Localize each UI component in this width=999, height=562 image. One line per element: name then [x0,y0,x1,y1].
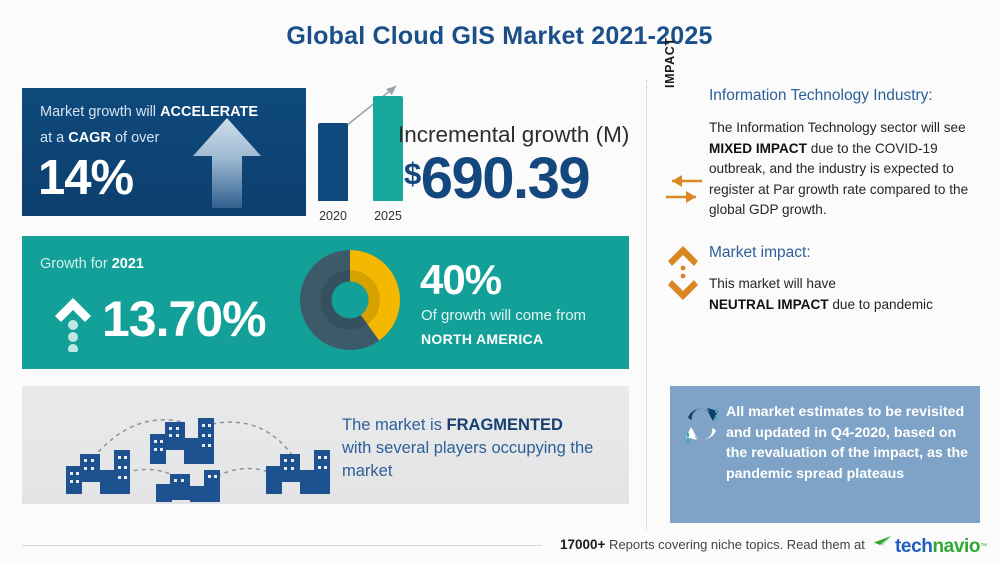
it-industry-heading: Information Technology Industry: [709,87,933,105]
report-count: 17000+ [560,537,605,552]
incremental-growth-value: $690.39 [404,145,589,212]
cagr-line2-pre: at a [40,130,68,146]
infographic-root: Global Cloud GIS Market 2021-2025 Market… [0,0,999,562]
incremental-number: 690.39 [421,146,589,211]
impact-vertical-label: IMPACT [663,37,677,88]
revision-note-panel: All market estimates to be revisited and… [670,386,980,523]
footer-divider [22,545,542,546]
it-mixed-impact: MIXED IMPACT [709,141,807,156]
growth-year: 2021 [112,256,144,272]
cagr-word: CAGR [68,130,111,146]
fragmented-text: The market is FRAGMENTED with several pl… [342,414,612,483]
currency-symbol: $ [404,156,420,191]
market-impact-heading: Market impact: [709,244,811,262]
bar-label-2020: 2020 [310,209,356,223]
it-body-part1: The Information Technology sector will s… [709,120,966,135]
fragmented-word: FRAGMENTED [447,416,563,434]
mi-body-part2: due to pandemic [829,297,933,312]
mi-neutral-impact: NEUTRAL IMPACT [709,297,829,312]
footer-text: 17000+ Reports covering niche topics. Re… [560,537,865,552]
fragmented-pre: The market is [342,416,447,434]
cagr-line-2: at a CAGR of over [40,130,159,146]
fragmented-post: with several players occupying the marke… [342,439,593,480]
revision-note-text: All market estimates to be revisited and… [726,402,972,484]
left-right-arrows-icon [664,168,704,215]
cagr-value: 14% [38,150,133,206]
cagr-panel: Market growth will ACCELERATE at a CAGR … [22,88,306,216]
region-subtitle: Of growth will come from [421,307,586,324]
bar-2025 [373,96,403,201]
cagr-line1-text: Market growth will [40,104,160,120]
region-donut-chart [300,250,400,355]
growth-value: 13.70% [102,290,266,348]
growth-for-label: Growth for 2021 [40,256,144,272]
logo-trademark: ™ [980,543,987,550]
market-impact-body: This market will have NEUTRAL IMPACT due… [709,274,995,315]
up-arrow-icon [190,116,264,213]
buildings-network-icon [42,392,342,502]
column-divider [646,80,647,530]
bar-2020 [318,123,348,201]
paper-plane-icon [872,535,892,558]
chevron-up-dots-icon [52,294,94,357]
refresh-cycle-icon [682,404,722,451]
logo-text-tech: tech [895,536,932,557]
footer-caption: Reports covering niche topics. Read them… [605,537,864,552]
up-down-chevrons-icon [665,242,701,309]
logo-text-navio: navio [932,536,980,557]
growth-for-prefix: Growth for [40,256,112,272]
mi-body-part1: This market will have [709,276,836,291]
technavio-logo[interactable]: technavio ™ [872,535,987,558]
region-name: NORTH AMERICA [421,331,543,347]
cagr-line2-post: of over [111,130,159,146]
it-industry-body: The Information Technology sector will s… [709,118,995,221]
fragmented-panel: The market is FRAGMENTED with several pl… [22,386,629,504]
page-title: Global Cloud GIS Market 2021-2025 [0,22,999,51]
region-percent: 40% [420,256,501,304]
